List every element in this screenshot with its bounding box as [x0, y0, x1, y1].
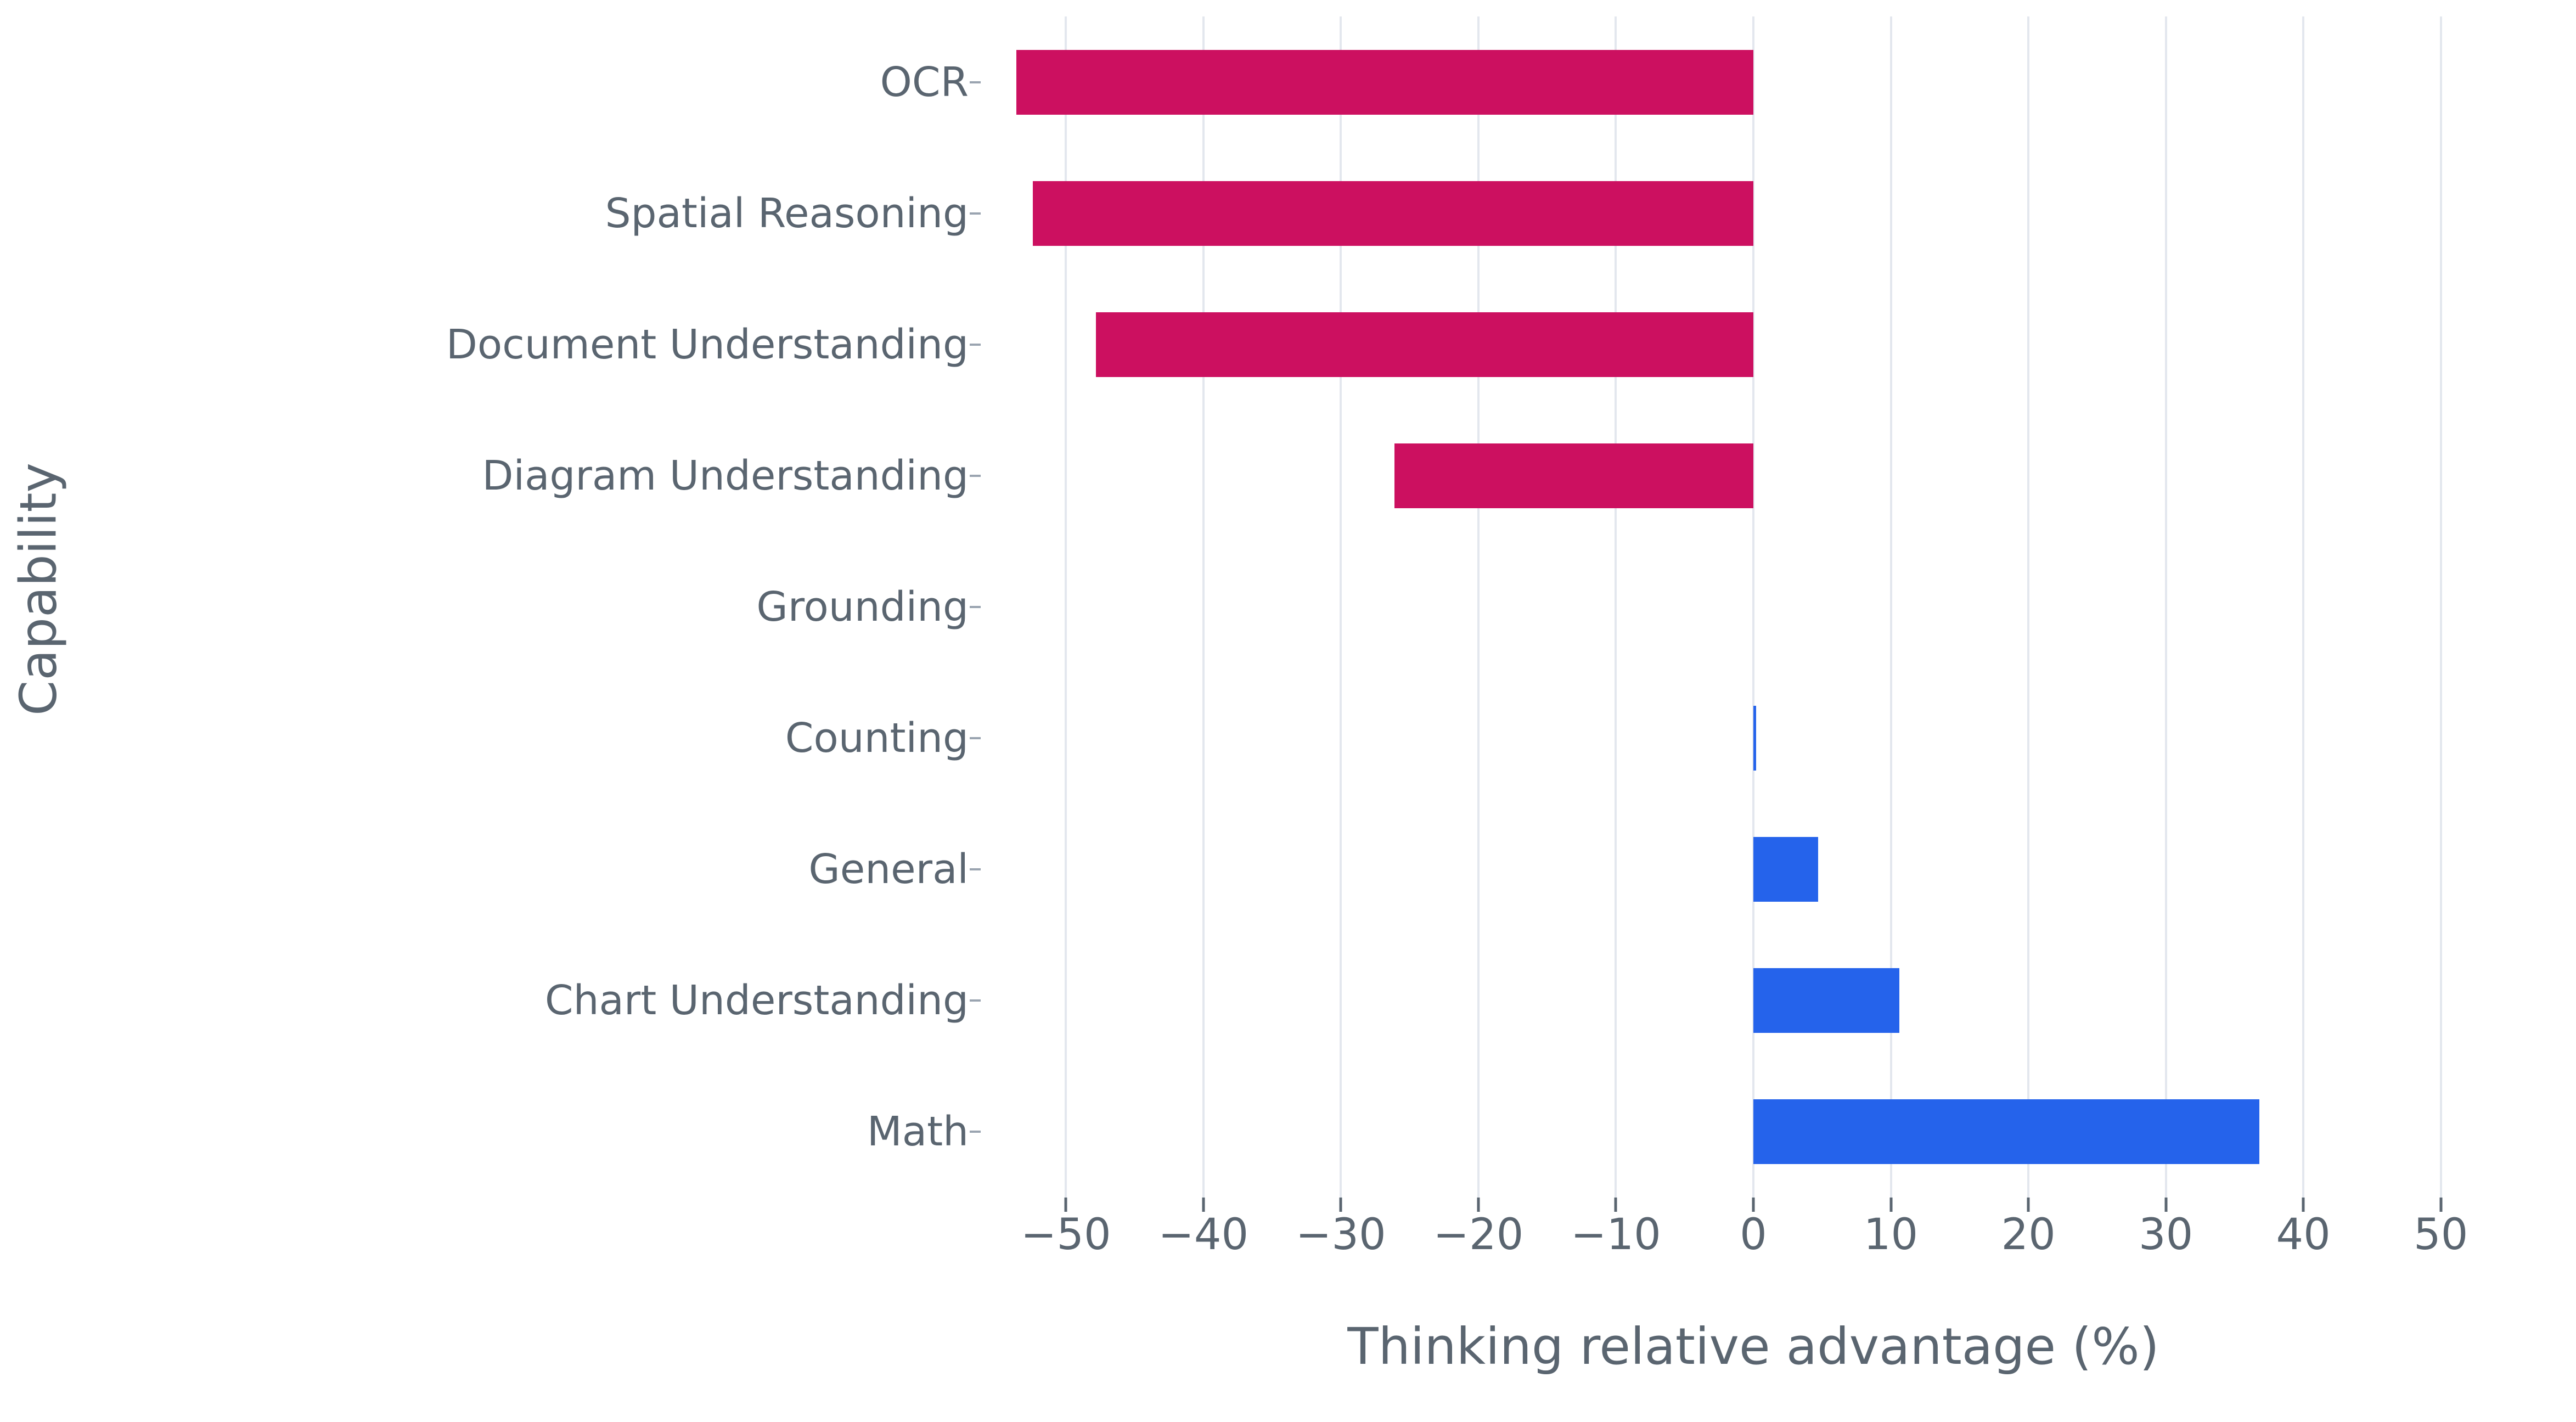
- x-tick-label: 50: [2414, 1212, 2468, 1259]
- bar-row: [997, 279, 2510, 410]
- y-tick-label-counting: Counting: [785, 673, 969, 804]
- bar-row: [997, 1066, 2510, 1198]
- y-tick-label-spatial-reasoning: Spatial Reasoning: [605, 148, 969, 279]
- x-tick-label: 10: [1864, 1212, 1918, 1259]
- bar-row: [997, 673, 2510, 804]
- y-tick-mark: [970, 737, 981, 739]
- y-tick-mark: [970, 344, 981, 346]
- x-tick-label: −40: [1158, 1212, 1249, 1259]
- y-tick-mark: [970, 1131, 981, 1133]
- plot-area: Thinking betterInstruct better: [997, 16, 2510, 1198]
- y-tick-label-chart-understanding: Chart Understanding: [545, 935, 969, 1066]
- bar: [1096, 312, 1753, 377]
- bar-row: [997, 541, 2510, 672]
- x-tick-label: −10: [1571, 1212, 1661, 1259]
- bar-row: [997, 804, 2510, 935]
- y-tick-mark: [970, 999, 981, 1002]
- y-tick-mark: [970, 212, 981, 215]
- bar: [1016, 50, 1753, 115]
- bar-row: [997, 410, 2510, 541]
- x-axis-title: Thinking relative advantage (%): [997, 1317, 2510, 1376]
- x-tick-label: 30: [2139, 1212, 2193, 1259]
- bar: [1753, 1099, 2259, 1164]
- x-tick-label: 20: [2001, 1212, 2055, 1259]
- y-tick-mark: [970, 606, 981, 608]
- y-tick-mark: [970, 81, 981, 83]
- x-tick-label: −30: [1296, 1212, 1386, 1259]
- bar-chart-figure: Capability OCRSpatial ReasoningDocument …: [0, 0, 2576, 1422]
- y-tick-label-ocr: OCR: [880, 16, 969, 148]
- y-tick-label-grounding: Grounding: [756, 541, 969, 672]
- bar: [1753, 837, 1818, 902]
- y-tick-mark: [970, 475, 981, 477]
- y-tick-label-diagram-understanding: Diagram Understanding: [482, 410, 969, 541]
- bar-row: [997, 148, 2510, 279]
- y-tick-mark: [970, 868, 981, 870]
- y-tick-label-general: General: [808, 804, 969, 935]
- bar: [1394, 443, 1753, 508]
- x-tick-label: −50: [1021, 1212, 1111, 1259]
- x-tick-label: 0: [1740, 1212, 1767, 1259]
- x-tick-label: −20: [1433, 1212, 1524, 1259]
- bar: [1753, 968, 1899, 1033]
- bar: [1033, 181, 1753, 246]
- bar-row: [997, 16, 2510, 148]
- x-axis-tick-labels: −50−40−30−20−1001020304050: [997, 1198, 2510, 1263]
- bar: [1753, 706, 1756, 771]
- y-tick-label-math: Math: [867, 1066, 969, 1198]
- x-tick-label: 40: [2276, 1212, 2331, 1259]
- bar-row: [997, 935, 2510, 1066]
- y-tick-label-document-understanding: Document Understanding: [446, 279, 969, 410]
- y-axis-tick-labels: OCRSpatial ReasoningDocument Understandi…: [0, 16, 997, 1198]
